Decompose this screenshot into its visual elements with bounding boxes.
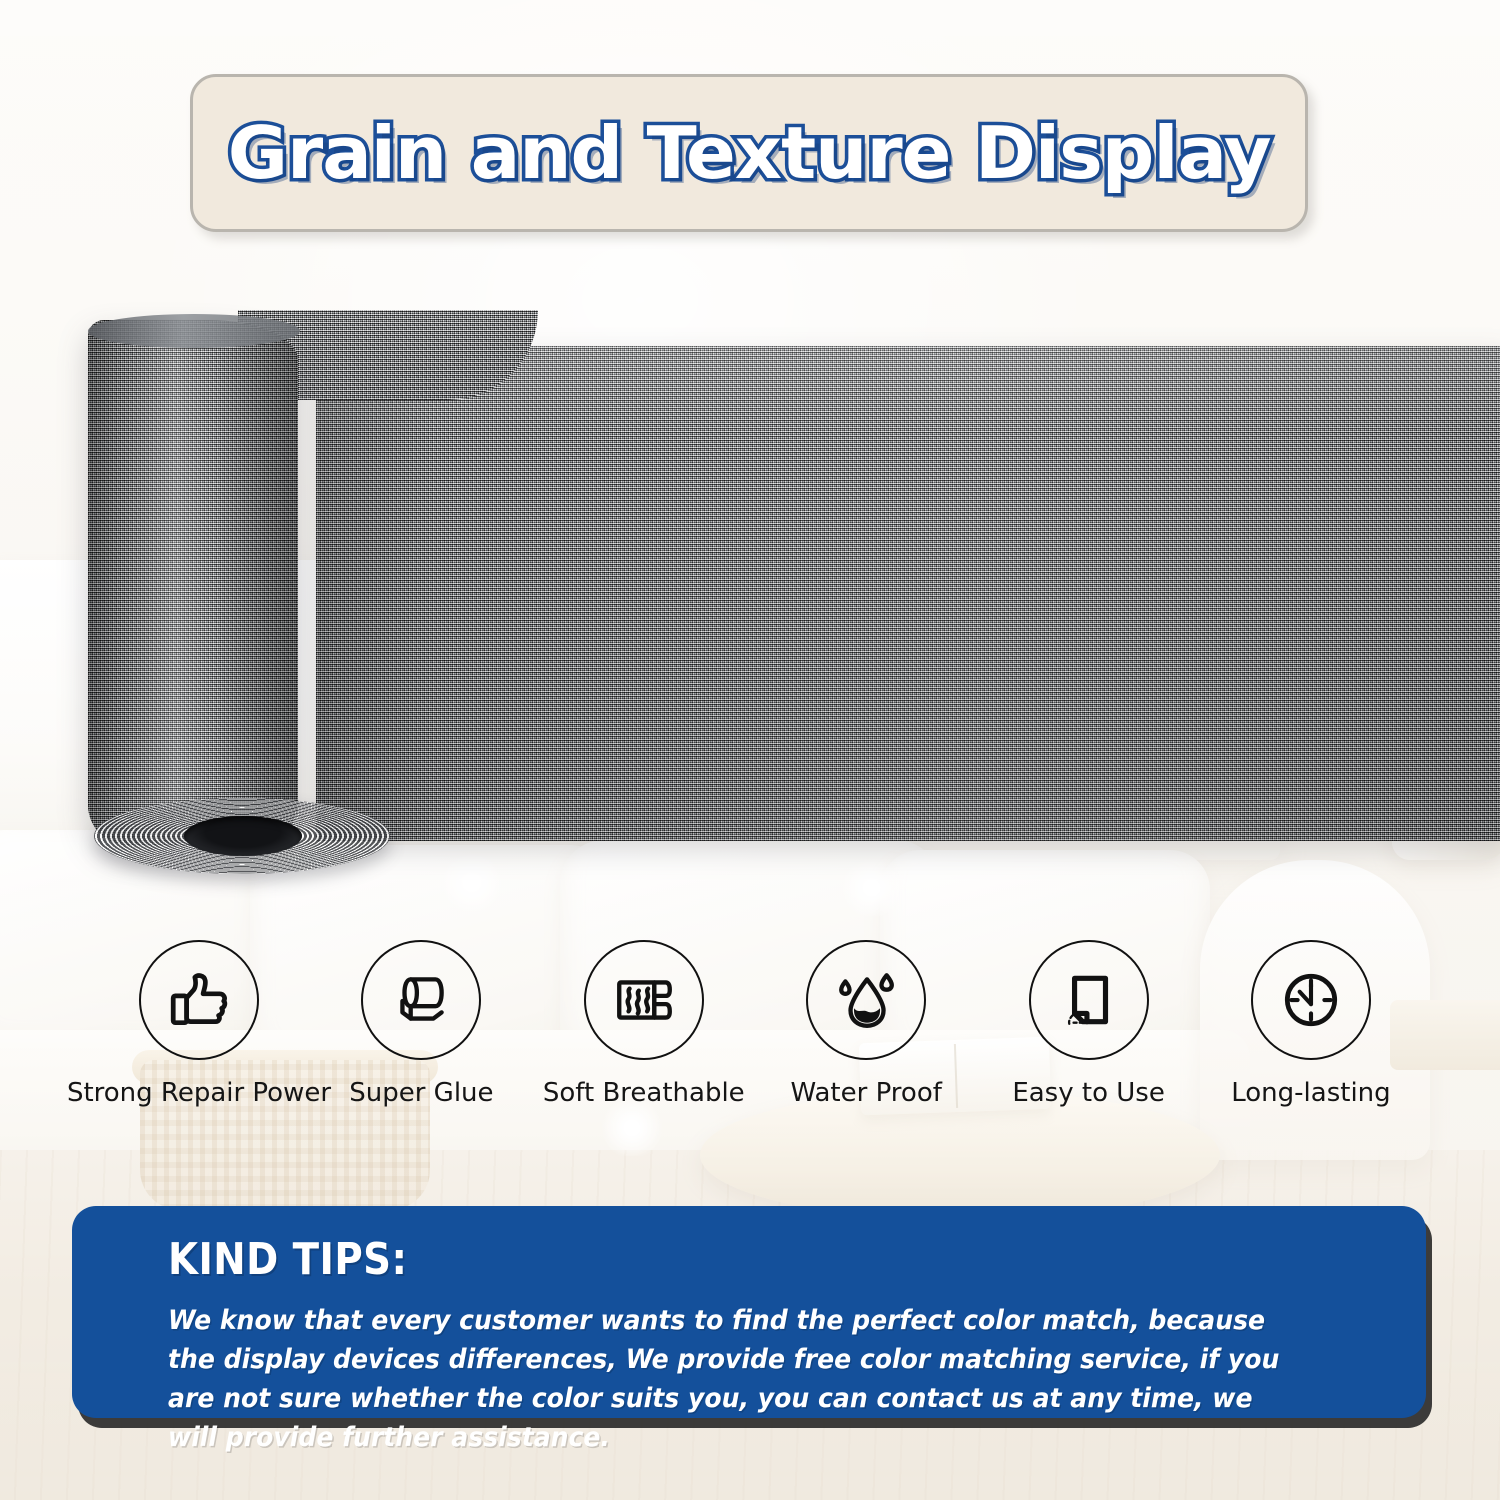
title-badge: Grain and Texture Display (190, 74, 1308, 232)
fabric-roll-top-edge (88, 314, 300, 348)
tips-heading: KIND TIPS: (168, 1234, 1275, 1285)
feature-item-super-glue: Super Glue (312, 940, 530, 1108)
feature-item-soft-breathable: Soft Breathable (535, 940, 753, 1108)
feature-label: Water Proof (790, 1078, 941, 1108)
feature-icon-circle (361, 940, 481, 1060)
tips-body-text: We know that every customer wants to fin… (168, 1301, 1293, 1458)
feature-icon-circle (1029, 940, 1149, 1060)
feature-list: Strong Repair Power Super Glue (90, 940, 1420, 1120)
fabric-flat-panel (316, 346, 1500, 841)
feature-icon-circle (584, 940, 704, 1060)
fabric-roll-product (88, 300, 1428, 870)
feature-item-water-proof: Water Proof (757, 940, 975, 1108)
feature-item-easy-to-use: Easy to Use (980, 940, 1198, 1108)
tape-roll-icon (388, 967, 454, 1033)
feature-icon-circle (1251, 940, 1371, 1060)
feature-label: Long-lasting (1231, 1078, 1390, 1108)
peel-sheet-icon (1056, 967, 1122, 1033)
thumbs-up-icon (166, 967, 232, 1033)
feature-item-long-lasting: Long-lasting (1202, 940, 1420, 1108)
feature-label: Soft Breathable (543, 1078, 745, 1108)
fabric-roll-hollow-core (184, 816, 302, 856)
product-marketing-image: Grain and Texture Display Strong Repair … (0, 0, 1500, 1500)
feature-label: Super Glue (349, 1078, 493, 1108)
feature-label: Strong Repair Power (67, 1078, 331, 1108)
feature-label: Easy to Use (1012, 1078, 1165, 1108)
feature-item-strong-repair-power: Strong Repair Power (90, 940, 308, 1108)
page-title: Grain and Texture Display (228, 111, 1271, 195)
feature-icon-circle (806, 940, 926, 1060)
feature-icon-circle (139, 940, 259, 1060)
clock-icon (1278, 967, 1344, 1033)
breathable-fabric-icon (611, 967, 677, 1033)
fabric-rolled-cylinder (88, 320, 298, 845)
tips-banner: KIND TIPS: We know that every customer w… (72, 1206, 1426, 1418)
water-drop-icon (833, 967, 899, 1033)
